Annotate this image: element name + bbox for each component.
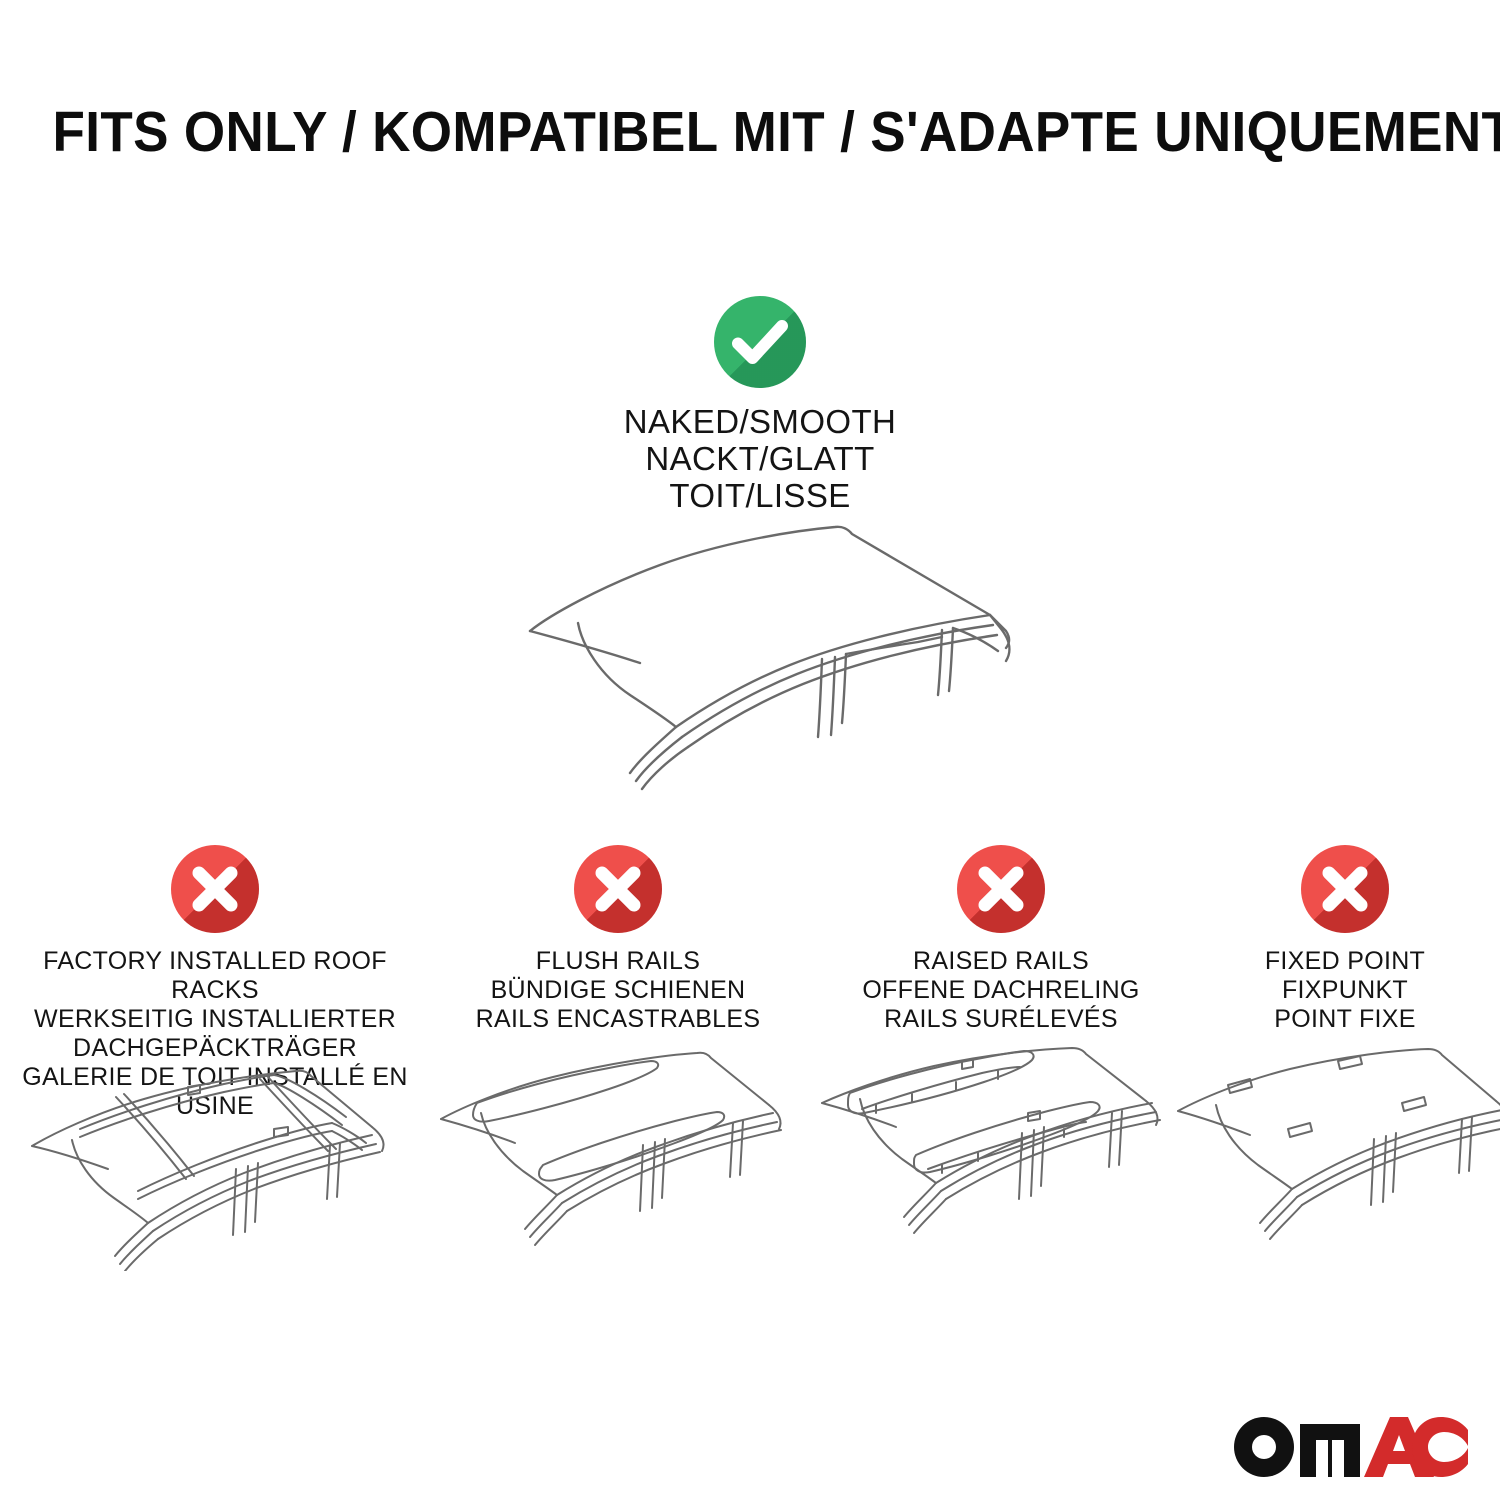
compatible-label-line-1: NAKED/SMOOTH	[575, 404, 945, 441]
page-title: FITS ONLY / KOMPATIBEL MIT / S'ADAPTE UN…	[53, 104, 1448, 161]
cross-circle-icon	[574, 845, 662, 933]
incompatible-label-line-2: BÜNDIGE SCHIENEN	[432, 976, 804, 1005]
cross-circle-icon	[1301, 845, 1389, 933]
cross-circle-icon	[957, 845, 1045, 933]
incompatible-label: RAISED RAILS OFFENE DACHRELING RAILS SUR…	[815, 947, 1187, 1034]
incompatible-label-line-1: FLUSH RAILS	[432, 947, 804, 976]
incompatible-label-line-1: FACTORY INSTALLED ROOF RACKS	[5, 947, 425, 1005]
incompatible-label-line-1: FIXED POINT	[1180, 947, 1500, 976]
incompatible-item-fixed-point: FIXED POINT FIXPUNKT POINT FIXE	[1180, 845, 1500, 1034]
omac-logo	[1232, 1412, 1468, 1478]
car-roof-factory-rack-illustration	[20, 1041, 410, 1271]
compatible-label-line-3: TOIT/LISSE	[575, 478, 945, 515]
incompatible-label-line-2: WERKSEITIG INSTALLIERTER	[5, 1005, 425, 1034]
incompatible-label: FIXED POINT FIXPUNKT POINT FIXE	[1180, 947, 1500, 1034]
incompatible-label-line-2: OFFENE DACHRELING	[815, 976, 1187, 1005]
cross-circle-icon	[171, 845, 259, 933]
incompatible-item-factory-installed-roof-racks: FACTORY INSTALLED ROOF RACKS WERKSEITIG …	[5, 845, 425, 1121]
car-roof-raised-rails-illustration	[816, 1041, 1186, 1271]
car-roof-naked-smooth-illustration	[490, 515, 1050, 805]
incompatible-label-line-3: POINT FIXE	[1180, 1005, 1500, 1034]
compatible-label-line-2: NACKT/GLATT	[575, 441, 945, 478]
car-roof-fixed-point-illustration	[1170, 1041, 1500, 1271]
car-roof-flush-rails-illustration	[433, 1041, 803, 1271]
compatible-label: NAKED/SMOOTH NACKT/GLATT TOIT/LISSE	[575, 404, 945, 515]
incompatible-label: FLUSH RAILS BÜNDIGE SCHIENEN RAILS ENCAS…	[432, 947, 804, 1034]
incompatible-label-line-3: RAILS SURÉLEVÉS	[815, 1005, 1187, 1034]
incompatible-item-flush-rails: FLUSH RAILS BÜNDIGE SCHIENEN RAILS ENCAS…	[432, 845, 804, 1034]
incompatible-label-line-2: FIXPUNKT	[1180, 976, 1500, 1005]
incompatible-label-line-1: RAISED RAILS	[815, 947, 1187, 976]
check-circle-icon	[714, 296, 806, 388]
incompatible-label-line-3: RAILS ENCASTRABLES	[432, 1005, 804, 1034]
compatible-roof-type: NAKED/SMOOTH NACKT/GLATT TOIT/LISSE	[575, 296, 945, 515]
incompatible-item-raised-rails: RAISED RAILS OFFENE DACHRELING RAILS SUR…	[815, 845, 1187, 1034]
incompatible-roof-types-row: FACTORY INSTALLED ROOF RACKS WERKSEITIG …	[0, 845, 1500, 1285]
